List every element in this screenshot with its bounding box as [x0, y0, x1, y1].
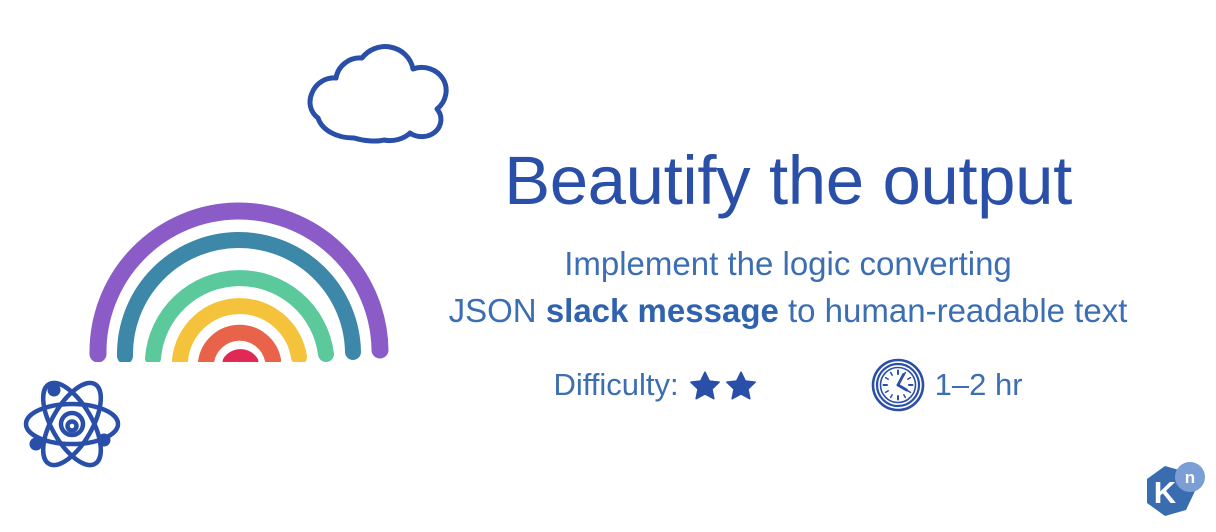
logo-letter-n: n — [1185, 468, 1195, 487]
time-estimate-label: 1–2 hr — [935, 367, 1023, 403]
subtitle-line-1: Implement the logic converting — [400, 241, 1176, 288]
meta-row: Difficulty: — [400, 357, 1176, 413]
subtitle-bold-term: slack message — [546, 292, 779, 329]
clock-icon — [870, 357, 926, 413]
subtitle-prefix: JSON — [449, 292, 546, 329]
atom-icon — [16, 368, 128, 480]
difficulty-group: Difficulty: — [553, 366, 757, 403]
difficulty-stars — [688, 369, 758, 403]
rainbow-icon — [78, 182, 400, 362]
cloud-icon — [296, 34, 466, 146]
slide-canvas: Beautify the output Implement the logic … — [0, 0, 1216, 532]
logo-letter-k: K — [1154, 475, 1177, 510]
knowledge-logo[interactable]: K n — [1134, 456, 1210, 528]
star-icon — [724, 369, 758, 403]
text-block: Beautify the output Implement the logic … — [400, 146, 1176, 413]
subtitle-line-2: JSON slack message to human-readable tex… — [400, 288, 1176, 335]
subtitle-suffix: to human-readable text — [779, 292, 1128, 329]
page-title: Beautify the output — [400, 146, 1176, 215]
star-icon — [688, 369, 722, 403]
time-group: 1–2 hr — [870, 357, 1023, 413]
difficulty-label: Difficulty: — [553, 367, 678, 403]
